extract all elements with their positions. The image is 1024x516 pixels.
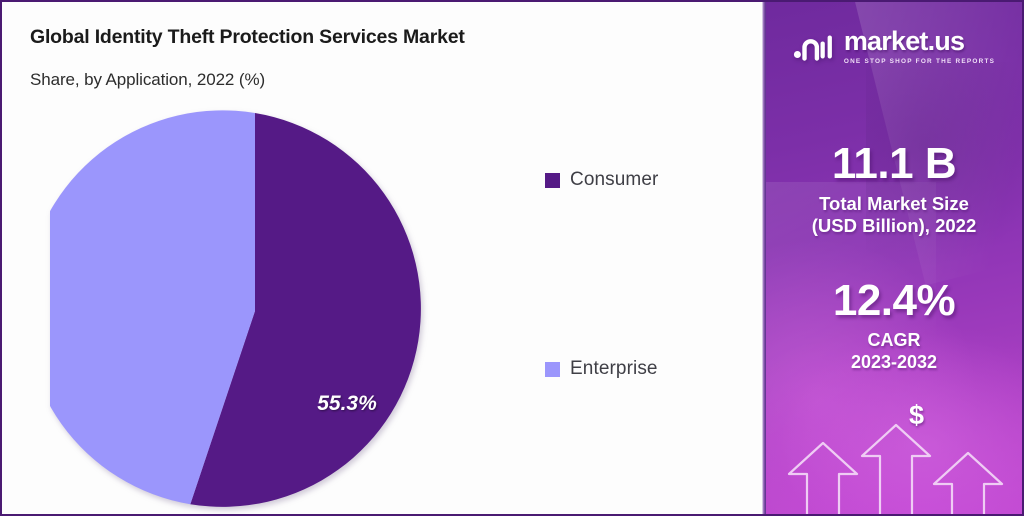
stat-cagr: 12.4% CAGR 2023-2032: [766, 279, 1022, 374]
legend-swatch-consumer: [545, 173, 560, 188]
pie-chart: 55.3%: [50, 106, 460, 514]
chart-panel: Global Identity Theft Protection Service…: [2, 2, 762, 514]
stat-caption-line2: 2023-2032: [766, 352, 1022, 374]
stat-caption-line1: Total Market Size: [766, 193, 1022, 216]
stat-total-market-size: 11.1 B Total Market Size (USD Billion), …: [766, 142, 1022, 238]
chart-subtitle: Share, by Application, 2022 (%): [30, 70, 265, 90]
brand-logo[interactable]: market.us ONE STOP SHOP FOR THE REPORTS: [766, 28, 1022, 65]
logo-text-block: market.us ONE STOP SHOP FOR THE REPORTS: [844, 28, 995, 65]
legend-swatch-enterprise: [545, 362, 560, 377]
legend-label-enterprise: Enterprise: [570, 358, 658, 380]
stat-value-cagr: 12.4%: [766, 279, 1022, 324]
chart-title: Global Identity Theft Protection Service…: [30, 26, 465, 49]
panel-divider: [762, 2, 766, 514]
stat-caption-cagr: CAGR 2023-2032: [766, 330, 1022, 374]
logo-wordmark: market.us: [844, 28, 964, 55]
infographic-page: Global Identity Theft Protection Service…: [0, 0, 1024, 516]
growth-arrows-graphic: $: [766, 388, 1022, 514]
stat-caption-market-size: Total Market Size (USD Billion), 2022: [766, 193, 1022, 238]
stat-caption-line1: CAGR: [766, 330, 1022, 352]
legend-item-consumer[interactable]: Consumer: [545, 169, 658, 191]
stat-caption-line2: (USD Billion), 2022: [766, 215, 1022, 238]
arrow-right-icon: [934, 453, 1002, 514]
brand-panel: market.us ONE STOP SHOP FOR THE REPORTS …: [766, 2, 1022, 514]
arrow-left-icon: [789, 443, 857, 514]
market-us-logo-icon: [793, 30, 835, 64]
logo-tagline: ONE STOP SHOP FOR THE REPORTS: [844, 58, 995, 65]
arrow-center-icon: [862, 425, 930, 514]
pie-slice-label-consumer: 55.3%: [317, 392, 377, 416]
stat-value-market-size: 11.1 B: [766, 142, 1022, 187]
legend-item-enterprise[interactable]: Enterprise: [545, 358, 658, 380]
legend-label-consumer: Consumer: [570, 169, 658, 191]
dollar-sign-icon: $: [909, 402, 924, 429]
pie-chart-svg: [50, 106, 460, 514]
growth-arrows-svg: [766, 388, 1022, 514]
